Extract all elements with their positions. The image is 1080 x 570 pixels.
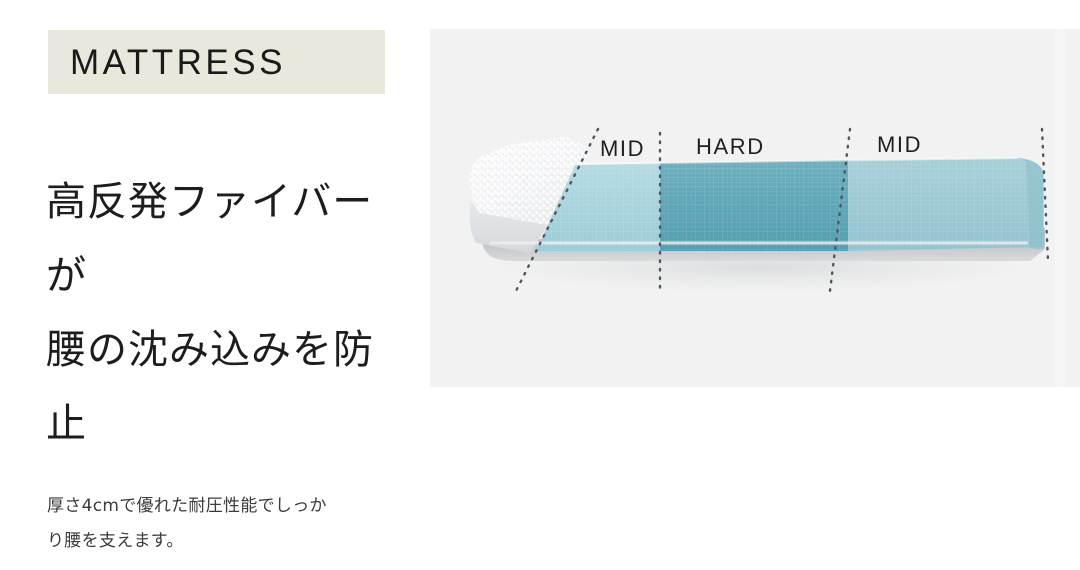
body-line-1: 厚さ4cmで優れた耐圧性能でしっか [47,496,327,516]
zone-label-mid-left: MID [600,136,645,162]
section-eyebrow-banner: MATTRESS [48,30,385,94]
product-image-panel: MID HARD MID [430,29,1080,387]
section-eyebrow-label: MATTRESS [70,45,286,80]
headline-line-4: 止 [46,401,87,447]
zone-hard-mesh [660,160,848,251]
headline-line-1: 高反発ファイバー [46,179,373,225]
body-description: 厚さ4cmで優れた耐圧性能でしっかり腰を支えます。 [47,489,387,559]
zone-mid-right-mesh [848,158,1043,251]
mattress-illustration [430,29,1080,387]
zone-label-hard: HARD [696,134,765,160]
body-line-2: り腰を支えます。 [47,531,184,551]
page-title: 高反発ファイバーが腰の沈み込みを防止 [46,165,386,461]
zone-label-mid-right: MID [877,132,922,158]
headline-line-2: が [46,253,87,299]
left-content-column: MATTRESS 高反発ファイバーが腰の沈み込みを防止 厚さ4cmで優れた耐圧性… [0,0,430,570]
headline-line-3: 腰の沈み込みを防 [46,327,374,373]
